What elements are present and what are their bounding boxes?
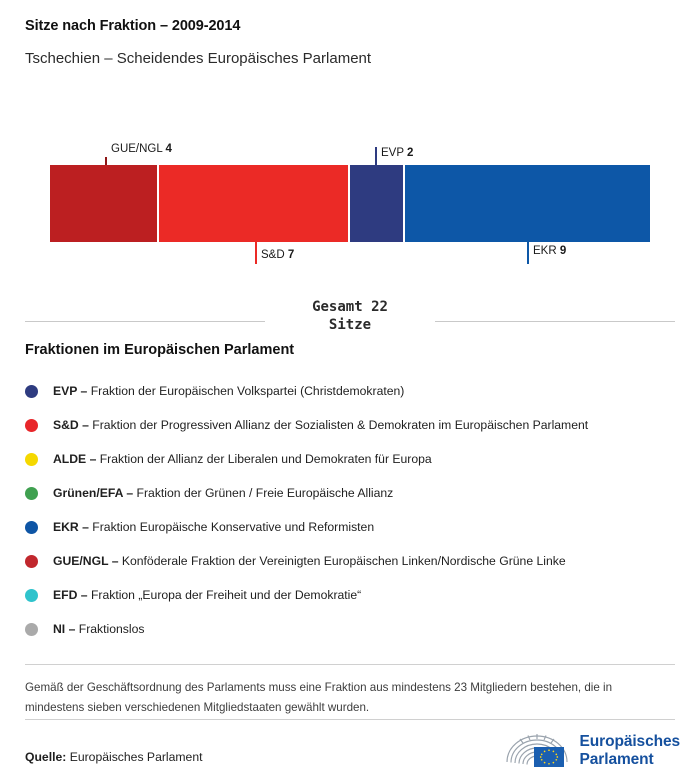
legend-abbr: NI – xyxy=(53,622,75,636)
total-seats-count: Gesamt 22 xyxy=(25,298,675,316)
footnote-text: Gemäß der Geschäftsordnung des Parlament… xyxy=(25,678,665,719)
legend-description: Fraktion der Europäischen Volkspartei (C… xyxy=(91,384,405,398)
page-title: Sitze nach Fraktion – 2009-2014 xyxy=(25,18,675,34)
legend-item-gruenen-efa[interactable]: Grünen/EFA – Fraktion der Grünen / Freie… xyxy=(25,476,680,510)
total-seats-text: Gesamt 22 Sitze xyxy=(25,298,675,334)
legend: Fraktionen im Europäischen Parlament EVP… xyxy=(25,342,680,646)
chart-header: Sitze nach Fraktion – 2009-2014 Tschechi… xyxy=(25,18,675,67)
legend-item-alde[interactable]: ALDE – Fraktion der Allianz der Liberale… xyxy=(25,442,680,476)
legend-description: Fraktion der Grünen / Freie Europäische … xyxy=(137,486,394,500)
legend-dot-icon xyxy=(25,487,38,500)
european-parliament-logo: Europäisches Parlament xyxy=(504,728,680,774)
bar-tick-evp xyxy=(375,147,377,165)
legend-item-efd[interactable]: EFD – Fraktion „Europa der Freiheit und … xyxy=(25,578,680,612)
ep-logo-line1: Europäisches xyxy=(580,733,680,751)
legend-abbr: GUE/NGL – xyxy=(53,554,118,568)
legend-dot-icon xyxy=(25,385,38,398)
legend-abbr: EKR – xyxy=(53,520,89,534)
legend-dot-icon xyxy=(25,453,38,466)
bar-segment-evp[interactable] xyxy=(350,165,405,242)
legend-abbr: EVP – xyxy=(53,384,87,398)
page-subtitle: Tschechien – Scheidendes Europäisches Pa… xyxy=(25,50,675,67)
ep-hemicycle-icon xyxy=(504,729,570,773)
legend-dot-icon xyxy=(25,419,38,432)
bar-label-gue-ngl: GUE/NGL 4 xyxy=(105,144,172,156)
legend-description: Fraktionslos xyxy=(79,622,145,636)
legend-dot-icon xyxy=(25,555,38,568)
ep-logo-line2: Parlament xyxy=(580,751,680,769)
legend-description: Fraktion „Europa der Freiheit und der De… xyxy=(91,588,361,602)
source-line: Quelle: Europäisches Parlament xyxy=(25,750,202,764)
legend-description: Fraktion Europäische Konservative und Re… xyxy=(92,520,374,534)
ep-logo-wordmark: Europäisches Parlament xyxy=(580,733,680,770)
legend-item-evp[interactable]: EVP – Fraktion der Europäischen Volkspar… xyxy=(25,374,680,408)
legend-item-s-and-d[interactable]: S&D – Fraktion der Progressiven Allianz … xyxy=(25,408,680,442)
bar-segment-gue-ngl[interactable] xyxy=(50,165,159,242)
bar-label-s-and-d: S&D 7 xyxy=(255,250,294,262)
footnote-divider xyxy=(25,664,675,665)
legend-abbr: ALDE – xyxy=(53,452,96,466)
legend-item-gue-ngl[interactable]: GUE/NGL – Konföderale Fraktion der Verei… xyxy=(25,544,680,578)
bar-label-ekr: EKR 9 xyxy=(527,246,566,258)
legend-abbr: EFD – xyxy=(53,588,88,602)
legend-title: Fraktionen im Europäischen Parlament xyxy=(25,342,680,358)
legend-abbr: Grünen/EFA – xyxy=(53,486,133,500)
legend-item-ni[interactable]: NI – Fraktionslos xyxy=(25,612,680,646)
bar-segment-s-and-d[interactable] xyxy=(159,165,350,242)
source-label: Quelle: xyxy=(25,750,66,764)
bar-label-evp: EVP 2 xyxy=(375,148,413,160)
legend-abbr: S&D – xyxy=(53,418,89,432)
stacked-bar xyxy=(50,165,650,242)
legend-item-ekr[interactable]: EKR – Fraktion Europäische Konservative … xyxy=(25,510,680,544)
legend-description: Konföderale Fraktion der Vereinigten Eur… xyxy=(122,554,566,568)
seats-bar-chart: GUE/NGL 4 EVP 2 S&D 7 EKR 9 xyxy=(0,130,700,290)
legend-dot-icon xyxy=(25,589,38,602)
legend-description: Fraktion der Progressiven Allianz der So… xyxy=(92,418,588,432)
legend-description: Fraktion der Allianz der Liberalen und D… xyxy=(100,452,432,466)
legend-dot-icon xyxy=(25,521,38,534)
bar-segment-ekr[interactable] xyxy=(405,165,650,242)
legend-dot-icon xyxy=(25,623,38,636)
total-seats-row: Gesamt 22 Sitze xyxy=(25,298,675,338)
source-value: Europäisches Parlament xyxy=(70,750,203,764)
footer-divider xyxy=(25,719,675,720)
total-seats-unit: Sitze xyxy=(25,316,675,334)
